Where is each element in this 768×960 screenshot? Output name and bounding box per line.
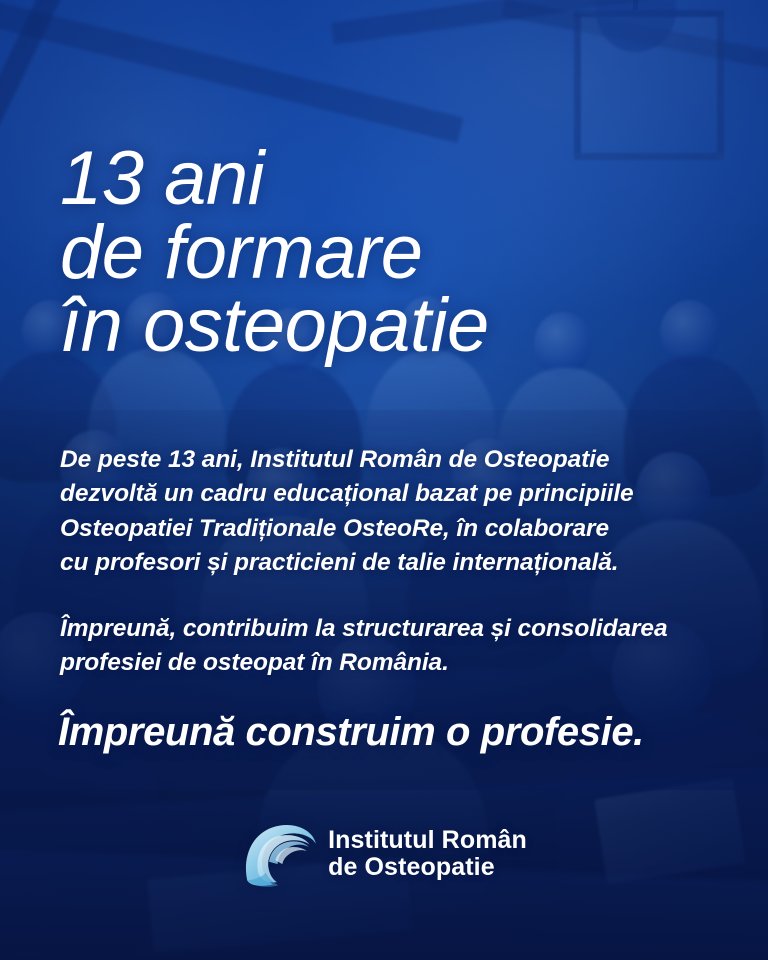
page-title: 13 ani de formare în osteopatie bbox=[60, 142, 489, 363]
poster: 13 ani de formare în osteopatie De peste… bbox=[0, 0, 768, 960]
wave-icon bbox=[241, 818, 319, 890]
poster-content: 13 ani de formare în osteopatie De peste… bbox=[0, 0, 768, 960]
logo-text: Institutul Român de Osteopatie bbox=[328, 827, 527, 882]
body-paragraph-2: Împreună, contribuim la structurarea și … bbox=[60, 612, 720, 681]
tagline: Împreună construim o profesie. bbox=[58, 710, 644, 755]
brand-logo: Institutul Român de Osteopatie bbox=[0, 818, 768, 890]
body-paragraph-1: De peste 13 ani, Institutul Român de Ost… bbox=[60, 443, 720, 580]
